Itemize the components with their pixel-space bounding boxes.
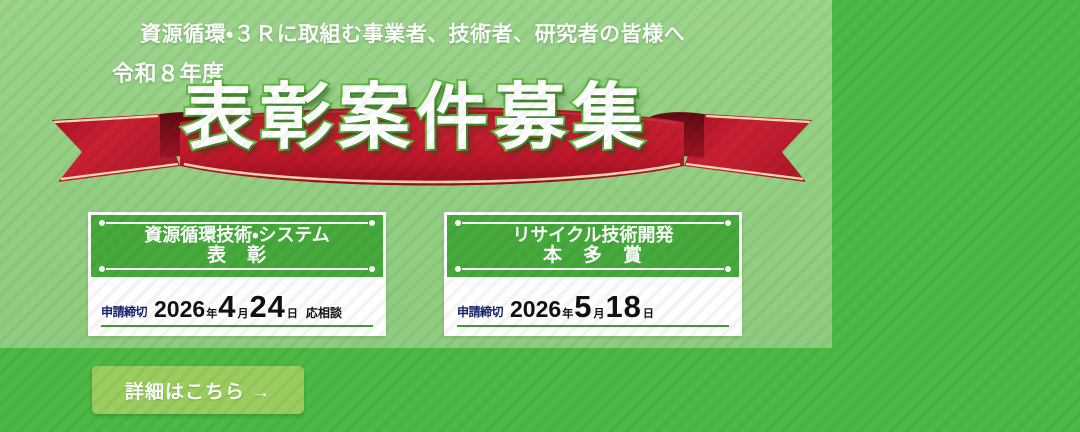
rule-dot-right-icon: [369, 266, 375, 272]
deadline-day: 18: [605, 291, 641, 322]
page-title-text: 表彰案件募集: [182, 82, 650, 154]
deadline-label: 申請締切: [101, 303, 147, 320]
deadline-month: 5: [574, 291, 592, 322]
award-title-line-2: 本 多 賞: [543, 245, 643, 266]
award-cards: 資源循環技術・システム 表 彰 申請締切 2026 年 4 月 24 日 応: [0, 212, 832, 336]
deadline-month-unit: 月: [237, 305, 248, 321]
deadline-row: 申請締切 2026 年 5 月 18 日: [457, 291, 729, 327]
award-card-resource-recycling[interactable]: 資源循環技術・システム 表 彰 申請締切 2026 年 4 月 24 日 応: [88, 212, 386, 336]
deadline-year: 2026: [510, 296, 561, 323]
rule-dot-right-icon: [725, 220, 731, 226]
award-card-header: 資源循環技術・システム 表 彰: [91, 215, 383, 277]
award-card-honda-prize[interactable]: リサイクル技術開発 本 多 賞 申請締切 2026 年 5 月 18 日: [444, 212, 742, 336]
deadline-day-unit: 日: [287, 305, 298, 321]
deadline-note: 応相談: [306, 304, 342, 321]
deadline-day-unit: 日: [643, 305, 654, 321]
rule-dot-left-icon: [455, 266, 461, 272]
details-button-label: 詳細はこちら →: [125, 377, 271, 404]
rule-dot-right-icon: [725, 266, 731, 272]
deadline-label: 申請締切: [457, 303, 503, 320]
award-card-body: 申請締切 2026 年 4 月 24 日 応相談: [91, 277, 383, 333]
decorative-rule-bottom: [99, 266, 375, 272]
page-title: 表彰案件募集: [0, 82, 832, 154]
rule-dot-right-icon: [369, 220, 375, 226]
decorative-rule-top: [455, 220, 731, 226]
rule-dot-left-icon: [99, 266, 105, 272]
award-card-body: 申請締切 2026 年 5 月 18 日: [447, 277, 739, 333]
award-title-line-2: 表 彰: [207, 245, 267, 266]
deadline-year-unit: 年: [206, 305, 217, 321]
promo-banner: 資源循環・３Ｒに取組む事業者、技術者、研究者の皆様へ 令和８年度: [0, 0, 1080, 432]
award-card-header: リサイクル技術開発 本 多 賞: [447, 215, 739, 277]
rule-dot-left-icon: [99, 220, 105, 226]
rule-dot-left-icon: [455, 220, 461, 226]
deadline-month-unit: 月: [593, 305, 604, 321]
rule-bar: [462, 222, 724, 224]
deadline-row: 申請締切 2026 年 4 月 24 日 応相談: [101, 291, 373, 327]
details-button[interactable]: 詳細はこちら →: [92, 366, 304, 414]
deadline-year-unit: 年: [562, 305, 573, 321]
deadline-year: 2026: [154, 296, 205, 323]
award-title-line-1: 資源循環技術・システム: [144, 225, 330, 245]
deadline-day: 24: [249, 291, 285, 322]
decorative-rule-top: [99, 220, 375, 226]
lead-line-audience: 資源循環・３Ｒに取組む事業者、技術者、研究者の皆様へ: [140, 18, 685, 48]
decorative-rule-bottom: [455, 266, 731, 272]
rule-bar: [106, 268, 368, 270]
rule-bar: [106, 222, 368, 224]
rule-bar: [462, 268, 724, 270]
award-title-line-1: リサイクル技術開発: [512, 225, 673, 245]
deadline-month: 4: [218, 291, 236, 322]
